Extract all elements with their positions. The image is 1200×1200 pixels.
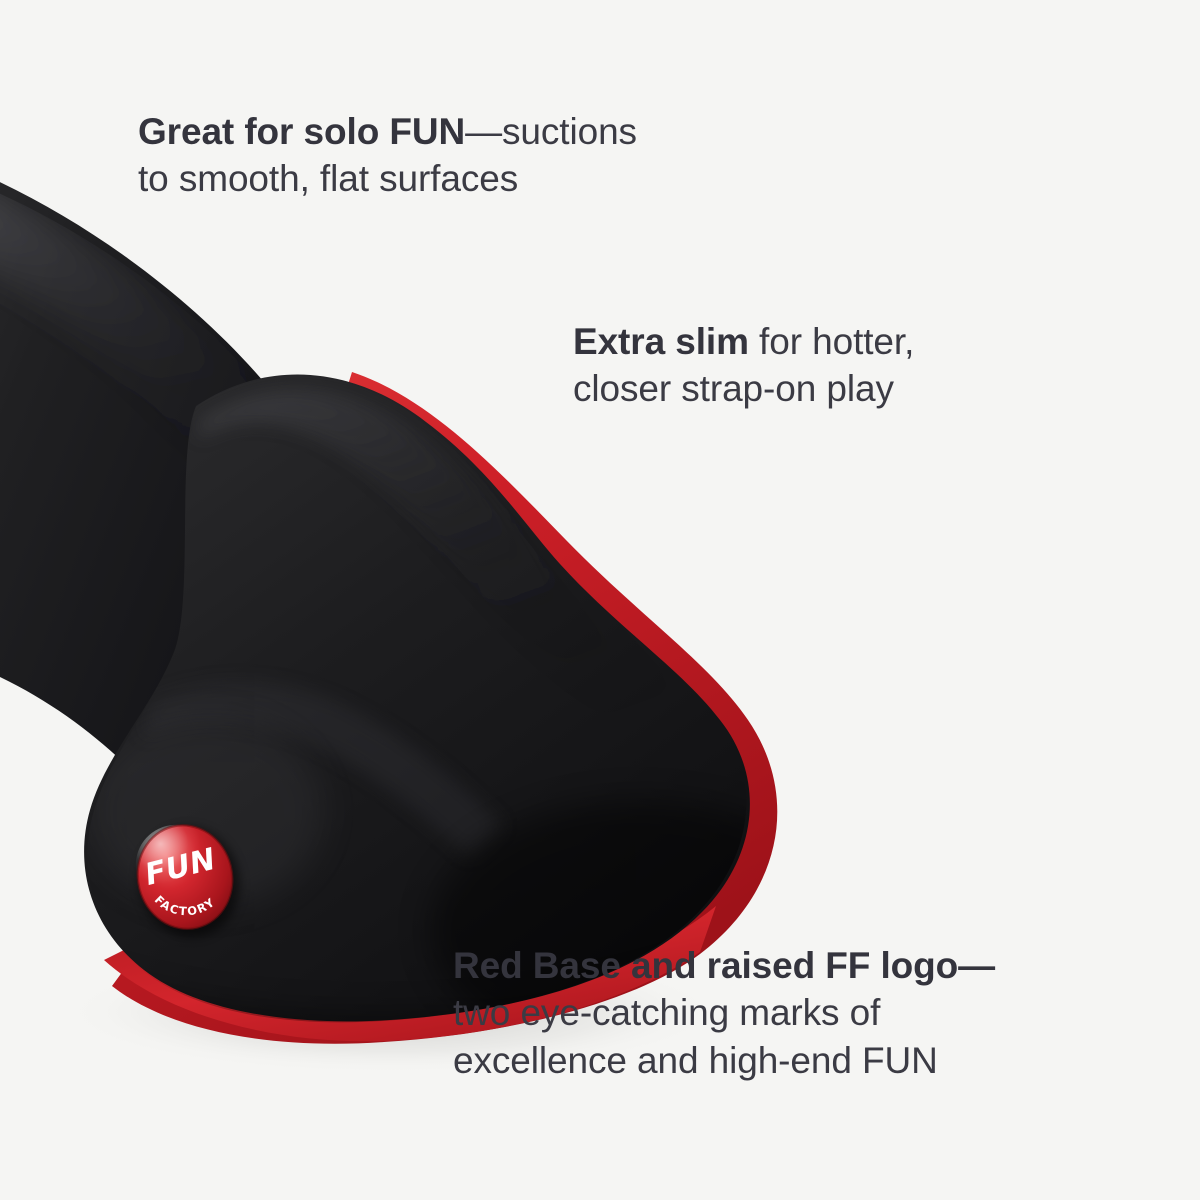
- badge-word-fun: FUN: [142, 842, 220, 893]
- badge-inner-edge: [127, 815, 243, 939]
- callout-extra-slim: Extra slim for hotter, closer strap-on p…: [573, 318, 914, 413]
- callout-extra-slim-line1: Extra slim for hotter,: [573, 318, 914, 365]
- base-crease: [142, 682, 504, 858]
- callout-red-base: Red Base and raised FF logo— two eye-cat…: [453, 942, 995, 1084]
- callout-solo-fun-rest: —suctions: [465, 111, 637, 152]
- callout-red-base-line1: Red Base and raised FF logo—: [453, 942, 995, 989]
- callout-extra-slim-line2: closer strap-on play: [573, 365, 914, 412]
- callout-red-base-line3: excellence and high-end FUN: [453, 1037, 995, 1084]
- fun-factory-logo-badge: FUN FACTORY: [126, 812, 251, 948]
- badge-word-factory: FACTORY: [150, 880, 220, 927]
- badge-body: [127, 815, 243, 939]
- base-ridge-highlight: [198, 390, 718, 780]
- callout-solo-fun-line2: to smooth, flat surfaces: [138, 155, 637, 202]
- product-shaft: [0, 150, 394, 836]
- callout-solo-fun-line1: Great for solo FUN—suctions: [138, 108, 637, 155]
- badge-shadow: [128, 817, 252, 948]
- badge-gloss: [127, 816, 224, 913]
- callout-solo-fun: Great for solo FUN—suctions to smooth, f…: [138, 108, 637, 203]
- callout-red-base-line2: two eye-catching marks of: [453, 989, 995, 1036]
- callout-red-base-bold: Red Base and raised FF logo—: [453, 945, 995, 986]
- base-left-lobe-light: [88, 716, 324, 908]
- shaft-sheen: [0, 160, 356, 586]
- callout-solo-fun-bold: Great for solo FUN: [138, 111, 465, 152]
- callout-extra-slim-rest: for hotter,: [749, 321, 914, 362]
- callout-extra-slim-bold: Extra slim: [573, 321, 749, 362]
- product-infographic: FUN FACTORY Great for solo FUN—suctions …: [0, 0, 1200, 1200]
